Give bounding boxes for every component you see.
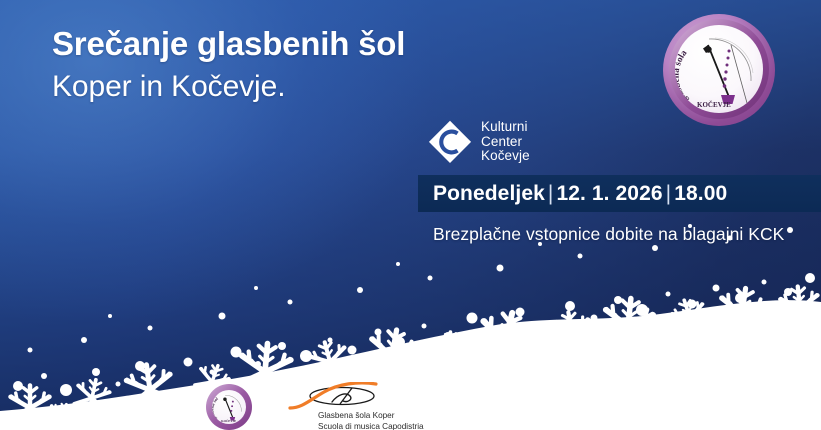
headline-line-1: Srečanje glasbenih šol — [52, 24, 692, 64]
date-separator-1: | — [545, 182, 557, 205]
kck-line-1: Kulturni — [481, 120, 530, 135]
metronome-icon: glasbena šola KOČEVJE — [675, 25, 763, 113]
date-time: 18.00 — [674, 182, 727, 205]
logo-face: glasbena šola KOČEVJE — [675, 25, 763, 113]
headline-line-2: Koper in Kočevje. — [52, 67, 692, 107]
date-value: 12. 1. 2026 — [556, 182, 662, 205]
swirl-clef-icon — [280, 382, 430, 410]
mini-logo-sub-text: KOČEVJE — [221, 418, 236, 423]
glasbena-sola-kocevje-mini-logo: glasbena šola KOČEVJE — [206, 384, 252, 430]
glasbena-sola-koper-logo: Glasbena šola Koper Scuola di musica Cap… — [280, 382, 430, 430]
date-day: Ponedeljek — [433, 182, 545, 205]
footer-logos: glasbena šola KOČEVJE Glasbena šola Kope… — [206, 382, 430, 430]
logo-sub-text: KOČEVJE — [697, 101, 731, 109]
mini-logo-face: glasbena šola KOČEVJE — [212, 390, 246, 424]
kck-logo: Kulturni Center Kočevje — [428, 120, 530, 164]
poster-canvas: Srečanje glasbenih šol Koper in Kočevje.… — [0, 0, 821, 430]
tickets-info: Brezplačne vstopnice dobite na blagajni … — [433, 224, 784, 245]
metronome-circle-icon: glasbena šola KOČEVJE — [212, 390, 246, 424]
kck-logo-text: Kulturni Center Kočevje — [481, 120, 530, 164]
date-separator-2: | — [663, 182, 675, 205]
gsk-line-2: Scuola di musica Capodistria — [318, 422, 424, 430]
glasbena-sola-koper-text: Glasbena šola Koper Scuola di musica Cap… — [318, 411, 424, 430]
diamond-c-icon — [428, 120, 472, 164]
logo-arc-text: glasbena šola — [675, 48, 690, 106]
kck-line-2: Center — [481, 135, 530, 150]
date-band: Ponedeljek|12. 1. 2026|18.00 — [418, 175, 821, 212]
page-title: Srečanje glasbenih šol Koper in Kočevje. — [52, 24, 692, 107]
gsk-line-1: Glasbena šola Koper — [318, 411, 424, 422]
kck-line-3: Kočevje — [481, 149, 530, 164]
date-band-text: Ponedeljek|12. 1. 2026|18.00 — [433, 182, 727, 206]
glasbena-sola-kocevje-logo: glasbena šola KOČEVJE — [663, 14, 775, 126]
